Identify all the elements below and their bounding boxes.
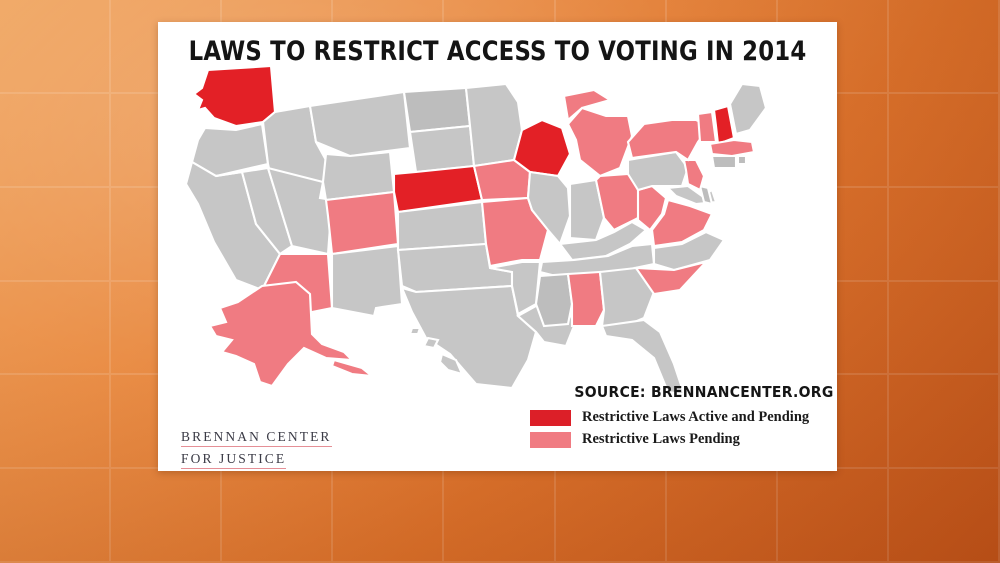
legend-swatch-active-pending: [530, 410, 571, 426]
state-montana: [310, 92, 410, 156]
state-new-mexico: [332, 246, 402, 316]
state-minnesota: [466, 84, 522, 166]
state-michigan: [564, 90, 632, 176]
state-new-york: [628, 120, 710, 160]
brennan-center-logo: BRENNAN CENTER FOR JUSTICE: [181, 428, 332, 471]
state-alabama: [568, 272, 604, 326]
page-title: LAWS TO RESTRICT ACCESS TO VOTING IN 201…: [178, 36, 816, 67]
us-choropleth-map: [176, 64, 821, 404]
state-colorado: [326, 192, 398, 254]
infographic-card: LAWS TO RESTRICT ACCESS TO VOTING IN 201…: [158, 22, 837, 471]
logo-line-1: BRENNAN CENTER: [181, 429, 332, 447]
state-mississippi: [536, 274, 572, 326]
legend-swatch-pending: [530, 432, 571, 448]
state-connecticut: [712, 156, 736, 168]
legend-item: Restrictive Laws Pending: [530, 430, 809, 449]
legend-label: Restrictive Laws Active and Pending: [582, 409, 809, 426]
state-maine: [730, 84, 766, 134]
state-rhode-island: [738, 156, 746, 164]
legend: Restrictive Laws Active and Pending Rest…: [530, 408, 809, 452]
logo-line-2: FOR JUSTICE: [181, 451, 286, 469]
legend-label: Restrictive Laws Pending: [582, 431, 740, 448]
state-north-dakota: [404, 88, 470, 132]
legend-item: Restrictive Laws Active and Pending: [530, 408, 809, 427]
state-washington: [194, 66, 275, 126]
state-south-dakota: [410, 126, 474, 172]
state-vermont: [698, 112, 716, 142]
state-massachusetts: [710, 140, 754, 156]
source-attribution: SOURCE: BRENNANCENTER.ORG: [571, 383, 837, 401]
